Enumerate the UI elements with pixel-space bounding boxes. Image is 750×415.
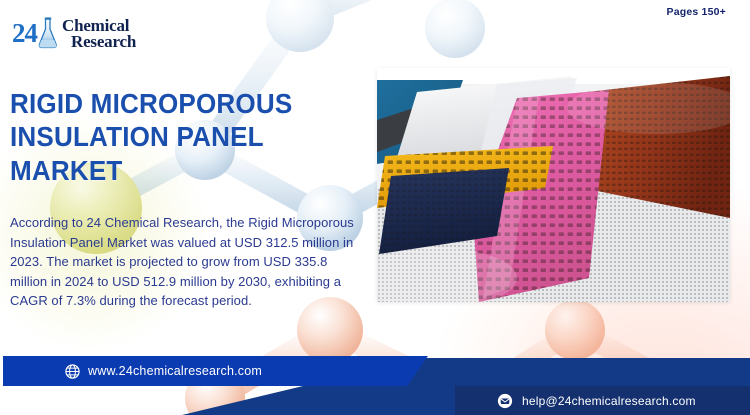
website-bar[interactable]: www.24chemicalresearch.com: [3, 356, 428, 386]
email-address[interactable]: help@24chemicalresearch.com: [522, 394, 696, 408]
website-url[interactable]: www.24chemicalresearch.com: [88, 364, 262, 378]
brand-logo[interactable]: 24 Chemical Research: [10, 14, 142, 52]
flask-icon: [37, 16, 59, 50]
market-summary-paragraph: According to 24 Chemical Research, the R…: [10, 213, 358, 311]
pages-badge: Pages 150+: [660, 4, 732, 20]
report-cover-poster: Pages 150+ 24 Chemical Research: [0, 0, 750, 415]
globe-icon: [65, 364, 80, 379]
perforated-insulation-panels-photo: [377, 68, 730, 302]
logo-number: 24: [12, 20, 37, 47]
logo-wordmark: Chemical Research: [62, 17, 136, 50]
logo-word-chemical: Chemical: [62, 17, 136, 34]
email-bar[interactable]: help@24chemicalresearch.com: [455, 386, 750, 415]
logo-word-research: Research: [71, 33, 136, 50]
envelope-icon: [497, 393, 513, 409]
page-title: RIGID MICROPOROUS INSULATION PANEL MARKE…: [10, 87, 356, 188]
